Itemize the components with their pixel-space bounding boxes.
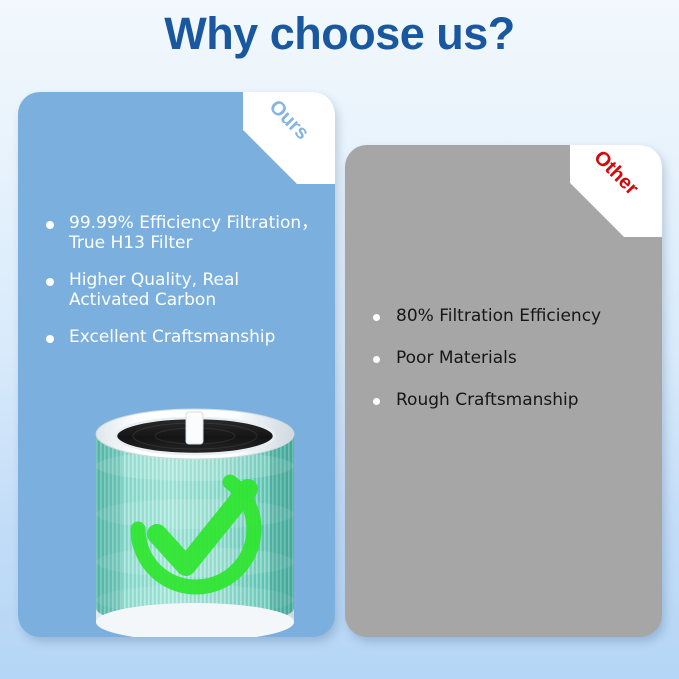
list-item-label: 99.99% Efficiency Filtration， True H13 F… <box>69 213 318 253</box>
list-item: 80% Filtration Efficiency <box>371 307 650 327</box>
ours-corner-ribbon: Ours <box>243 92 335 184</box>
other-feature-list: 80% Filtration Efficiency Poor Materials… <box>371 307 650 433</box>
bullet-dot-icon <box>373 398 380 405</box>
ours-comparison-card: 99.99% Efficiency Filtration， True H13 F… <box>18 92 335 637</box>
list-item: 99.99% Efficiency Filtration， True H13 F… <box>44 214 323 254</box>
bullet-dot-icon <box>373 314 380 321</box>
other-comparison-card: 80% Filtration Efficiency Poor Materials… <box>345 145 662 637</box>
bullet-dot-icon <box>373 356 380 363</box>
infographic-canvas: Why choose us? <box>0 0 679 679</box>
our-filter-image <box>80 394 310 637</box>
bullet-dot-icon <box>46 335 54 343</box>
list-item-label: Poor Materials <box>396 348 517 368</box>
list-item-label: Rough Craftsmanship <box>396 390 579 410</box>
list-item: Rough Craftsmanship <box>371 391 650 411</box>
list-item-label: Higher Quality, Real Activated Carbon <box>69 270 239 310</box>
page-title: Why choose us? <box>0 8 679 60</box>
list-item: Poor Materials <box>371 349 650 369</box>
bullet-dot-icon <box>46 221 54 229</box>
other-corner-ribbon: Other <box>570 145 662 237</box>
list-item-label: 80% Filtration Efficiency <box>396 306 601 326</box>
list-item: Higher Quality, Real Activated Carbon <box>44 271 323 311</box>
list-item: Excellent Craftsmanship <box>44 328 323 348</box>
bullet-dot-icon <box>46 278 54 286</box>
list-item-label: Excellent Craftsmanship <box>69 327 275 347</box>
ours-feature-list: 99.99% Efficiency Filtration， True H13 F… <box>44 214 323 364</box>
